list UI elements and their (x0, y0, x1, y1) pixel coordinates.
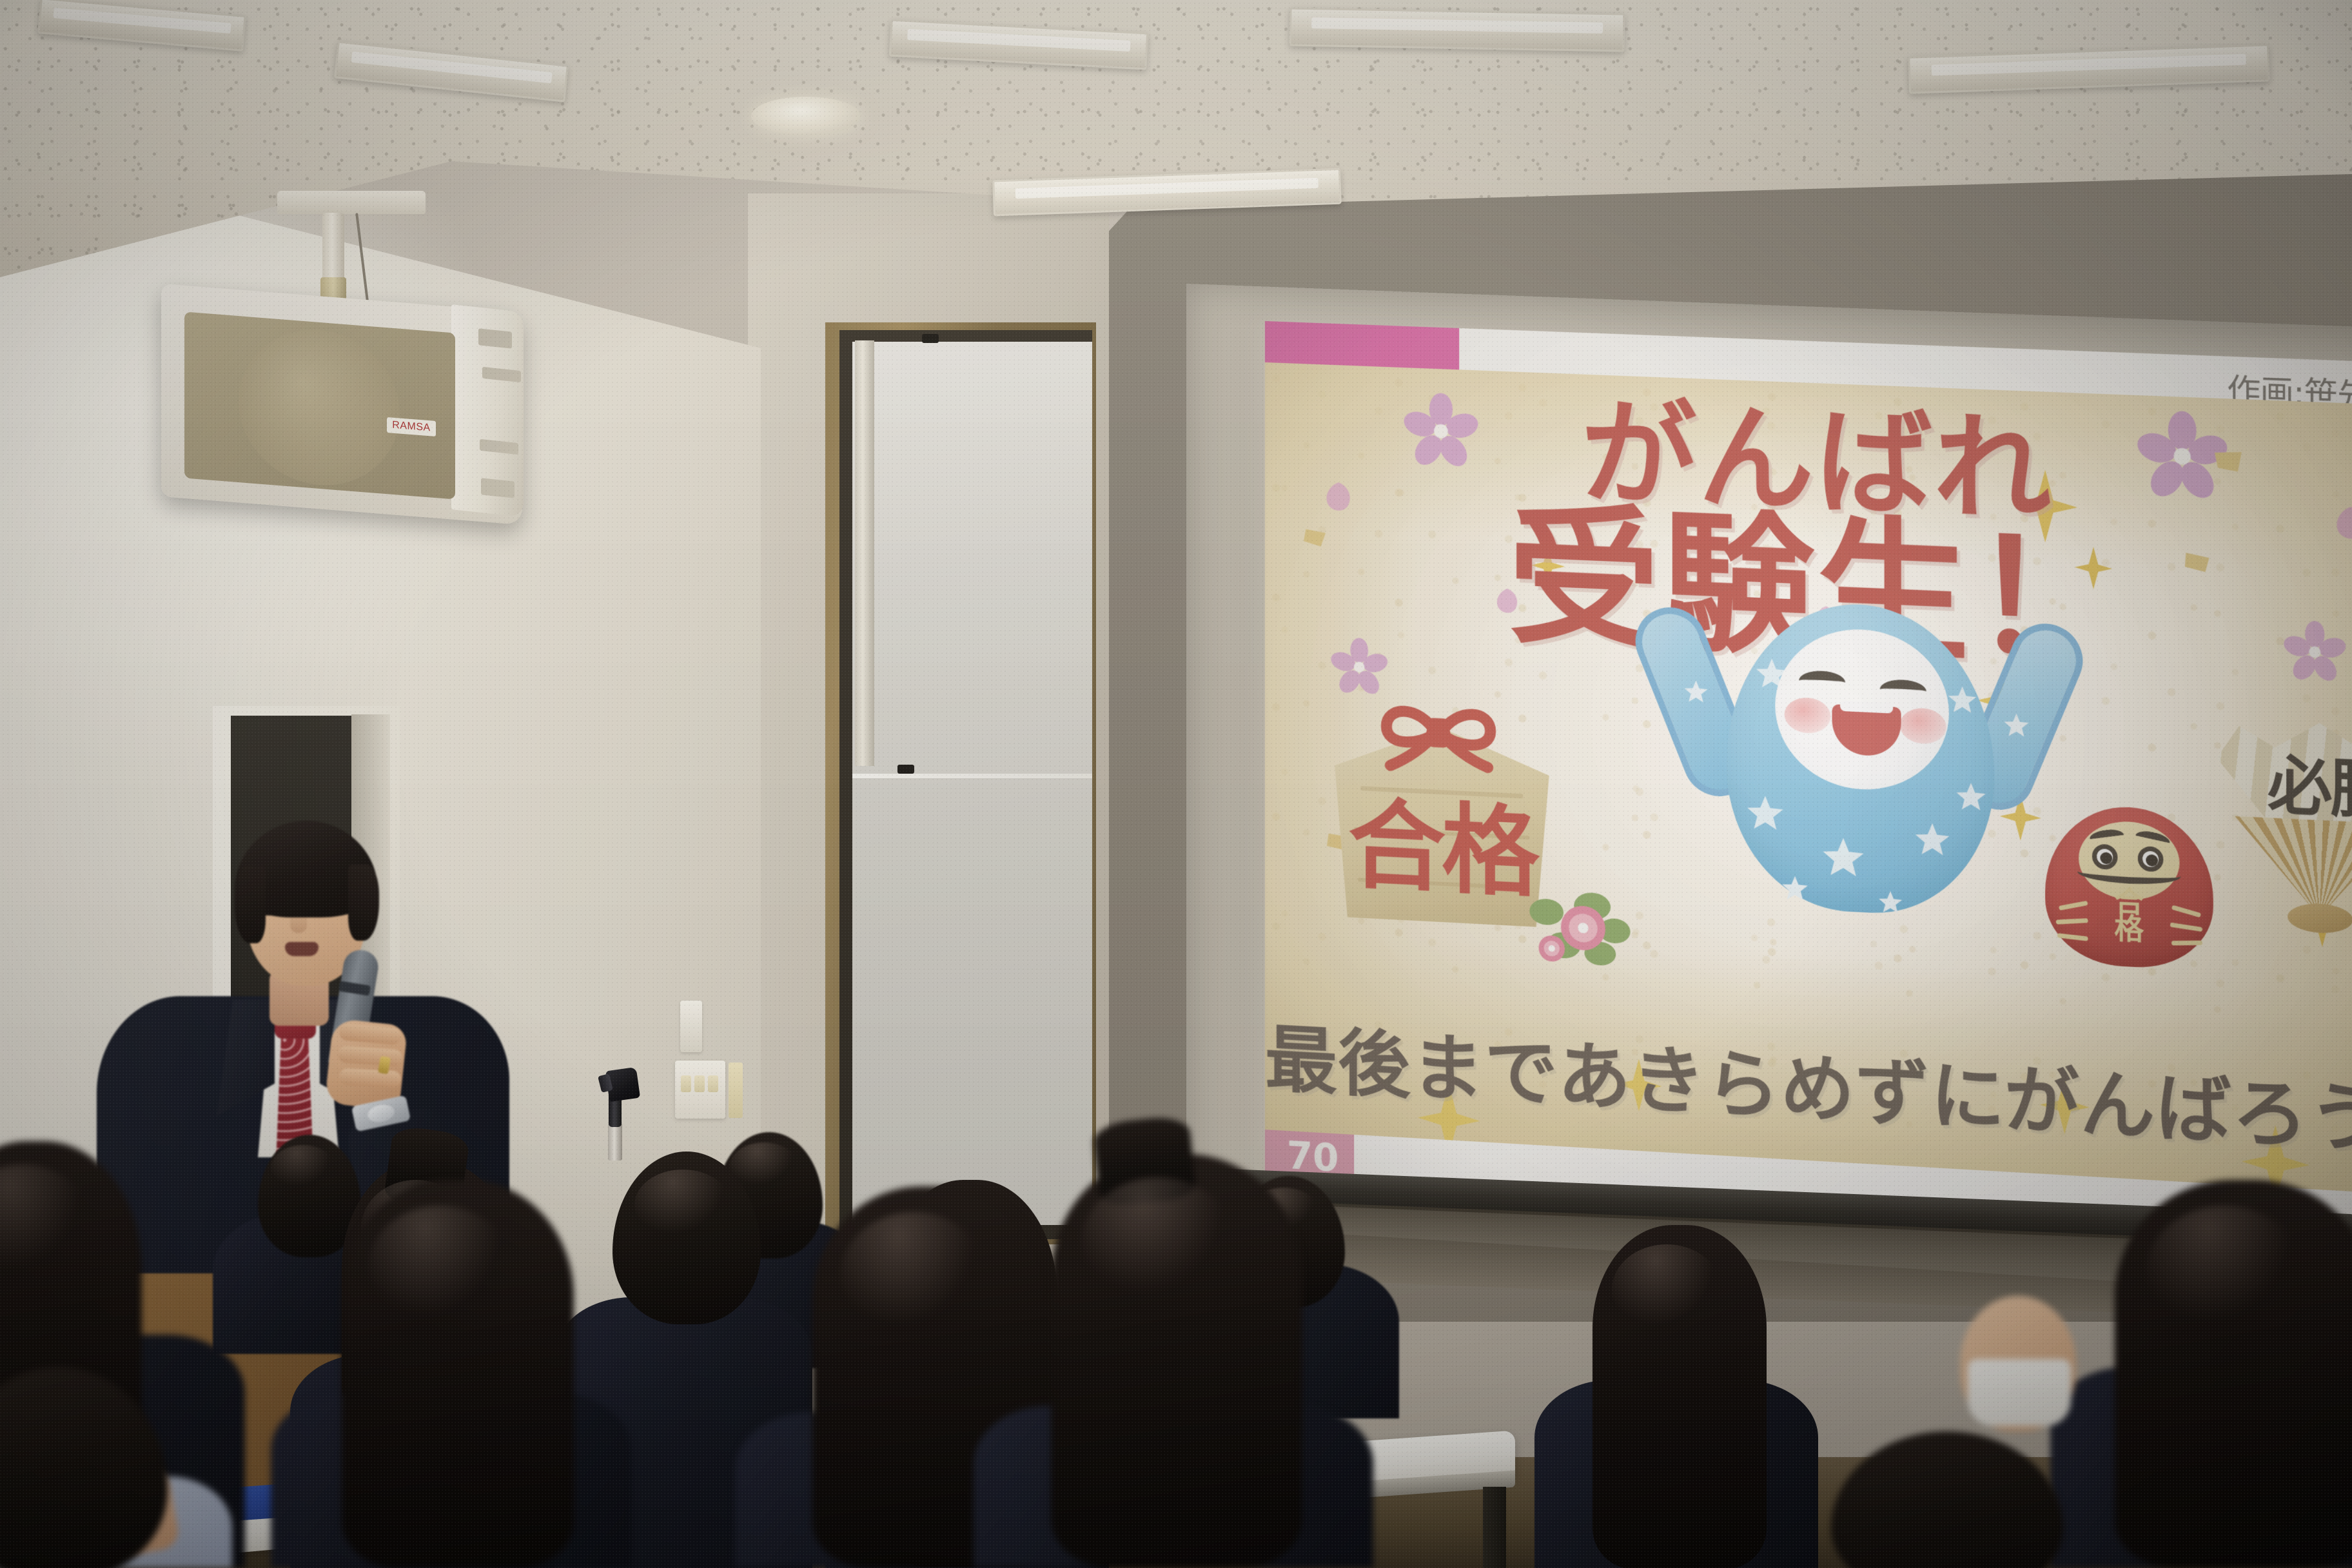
mascot-star (1946, 683, 1979, 720)
slide-accent-bar (1265, 321, 1459, 369)
ema-cord-bow-icon (1358, 689, 1520, 781)
fan-pivot (2288, 902, 2352, 934)
mascot-star (1820, 833, 1867, 885)
ceiling-spot-light (751, 97, 861, 135)
hair-highlight (271, 1145, 335, 1190)
ema-plaque: 合格 (1335, 688, 1549, 932)
whiteboard-surface (852, 342, 1092, 1225)
mascot-star (1780, 873, 1809, 906)
presenter-mouth (285, 942, 318, 956)
presenter-hair-side-right (348, 865, 379, 941)
whiteboard-clip (922, 334, 939, 343)
switch-strip-plate[interactable] (729, 1063, 743, 1118)
slide-artwork: がんばれ 受験生！ 合格 (1265, 362, 2352, 1193)
face-mask (1968, 1359, 2071, 1426)
lecture-hall-photo: RAMSA 作画:笹先 (0, 0, 2352, 1568)
mascot-star (1683, 678, 1709, 708)
mascot-character (1655, 573, 2066, 998)
daruma-belly-text: 合 格 (2045, 885, 2213, 948)
light-switch-rocker[interactable] (694, 1075, 705, 1092)
folding-fan: 必勝！ (2208, 714, 2352, 977)
desk-leg (1483, 1487, 1506, 1568)
presenter-finger (338, 1068, 401, 1088)
speaker-vent (481, 478, 514, 498)
speaker-mount-plate (277, 191, 426, 214)
hair-highlight (2147, 1206, 2302, 1335)
whiteboard-panel-seam (852, 774, 1092, 778)
whiteboard-track-rail (855, 340, 874, 766)
hair-highlight (841, 1212, 986, 1338)
mascot-star (2003, 710, 2031, 743)
fan-text: 必勝！ (2268, 733, 2352, 833)
hair-highlight (369, 1206, 511, 1328)
hair-highlight (634, 1170, 731, 1240)
mascot-star (1913, 819, 1952, 863)
whiteboard-clip (897, 765, 914, 774)
mascot-star (1954, 779, 1988, 817)
ceiling-light-strip (1289, 7, 1625, 52)
tripod-post (608, 1123, 622, 1161)
light-switch-rocker[interactable] (681, 1075, 691, 1092)
mascot-star (1877, 888, 1903, 919)
ema-plaque-text: 合格 (1335, 765, 1549, 916)
hair-highlight (1082, 1177, 1234, 1306)
switch-plate-upper[interactable] (680, 1001, 702, 1052)
projected-slide: 作画:笹先 (1265, 321, 2352, 1244)
daruma-doll: 合 格 (2045, 786, 2213, 971)
plum-blossom-cluster-icon (1523, 872, 1634, 978)
mascot-star (1745, 792, 1786, 838)
light-switch-rocker[interactable] (708, 1075, 718, 1092)
hair-highlight (1612, 1244, 1721, 1335)
presenter-hair-side-left (235, 866, 266, 943)
projection-screen-assembly: 作画:笹先 (1186, 284, 2352, 1328)
daruma-belly-line2: 格 (2114, 912, 2144, 947)
speaker-vent (478, 328, 512, 348)
